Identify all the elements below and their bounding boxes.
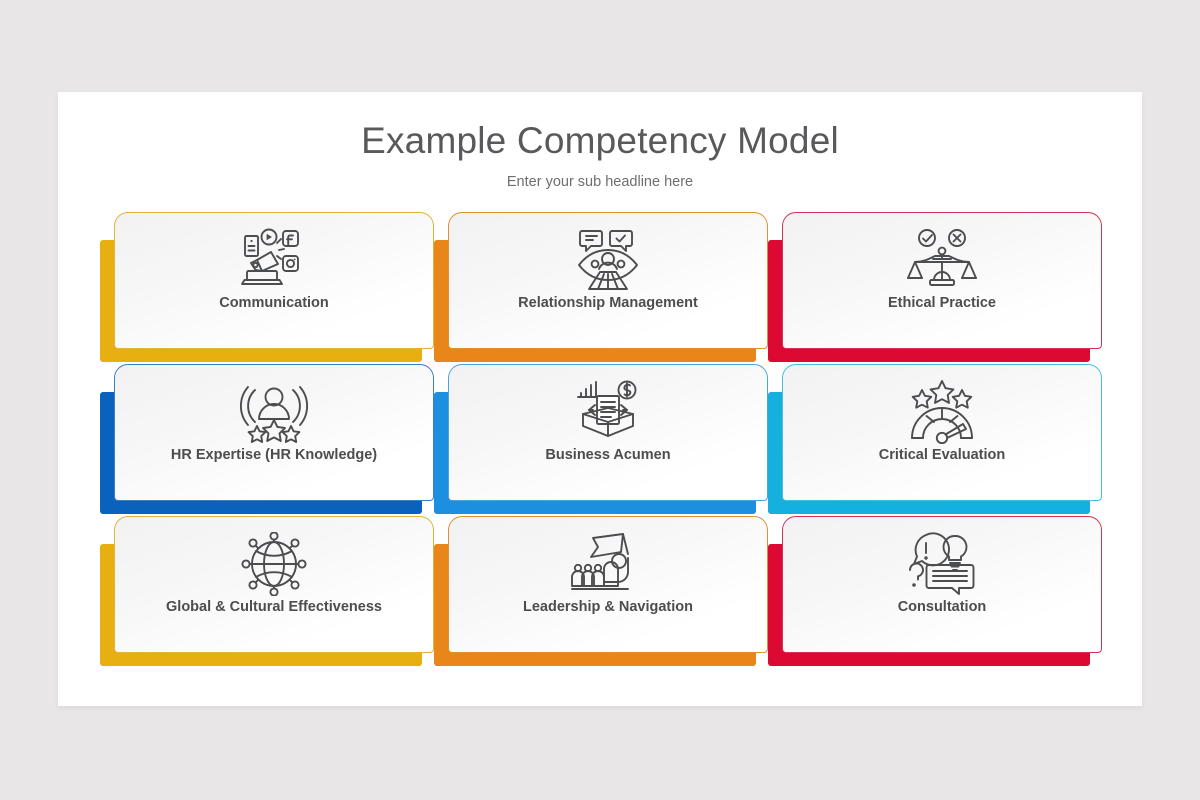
page-title: Example Competency Model — [58, 120, 1142, 162]
card-face[interactable]: Ethical Practice — [782, 212, 1102, 349]
open-box-document-chart-icon — [571, 378, 645, 446]
leader-flag-people-icon — [571, 530, 645, 598]
card-label: Business Acumen — [545, 448, 670, 464]
competency-card[interactable]: HR Expertise (HR Knowledge) — [100, 364, 434, 514]
competency-card[interactable]: Relationship Management — [434, 212, 768, 362]
card-face[interactable]: Communication — [114, 212, 434, 349]
card-face[interactable]: Business Acumen — [448, 364, 768, 501]
card-label: Ethical Practice — [888, 296, 996, 312]
gauge-stars-icon — [905, 378, 979, 446]
card-label: Leadership & Navigation — [523, 600, 693, 616]
balance-scale-icon — [905, 226, 979, 294]
card-label: Relationship Management — [518, 296, 698, 312]
card-label: Communication — [219, 296, 329, 312]
card-face[interactable]: Consultation — [782, 516, 1102, 653]
card-face[interactable]: Relationship Management — [448, 212, 768, 349]
card-face[interactable]: Critical Evaluation — [782, 364, 1102, 501]
competency-card[interactable]: Ethical Practice — [768, 212, 1102, 362]
slide-panel: Example Competency Model Enter your sub … — [58, 92, 1142, 706]
card-face[interactable]: HR Expertise (HR Knowledge) — [114, 364, 434, 501]
person-stars-icon — [237, 378, 311, 446]
question-bulb-chat-icon — [905, 530, 979, 598]
competency-card[interactable]: Global & Cultural Effectiveness — [100, 516, 434, 666]
card-label: Consultation — [898, 600, 987, 616]
competency-card[interactable]: Leadership & Navigation — [434, 516, 768, 666]
competency-card[interactable]: Consultation — [768, 516, 1102, 666]
competency-card-grid: Communication Relationship Management Et… — [100, 212, 1102, 667]
page-subtitle: Enter your sub headline here — [58, 174, 1142, 190]
competency-card[interactable]: Communication — [100, 212, 434, 362]
card-label: HR Expertise (HR Knowledge) — [171, 448, 377, 464]
megaphone-laptop-social-icon — [237, 226, 311, 294]
card-label: Global & Cultural Effectiveness — [166, 600, 382, 616]
competency-card[interactable]: Critical Evaluation — [768, 364, 1102, 514]
card-face[interactable]: Leadership & Navigation — [448, 516, 768, 653]
card-label: Critical Evaluation — [879, 448, 1006, 464]
competency-card[interactable]: Business Acumen — [434, 364, 768, 514]
card-face[interactable]: Global & Cultural Effectiveness — [114, 516, 434, 653]
globe-network-icon — [237, 530, 311, 598]
eye-people-road-icon — [571, 226, 645, 294]
